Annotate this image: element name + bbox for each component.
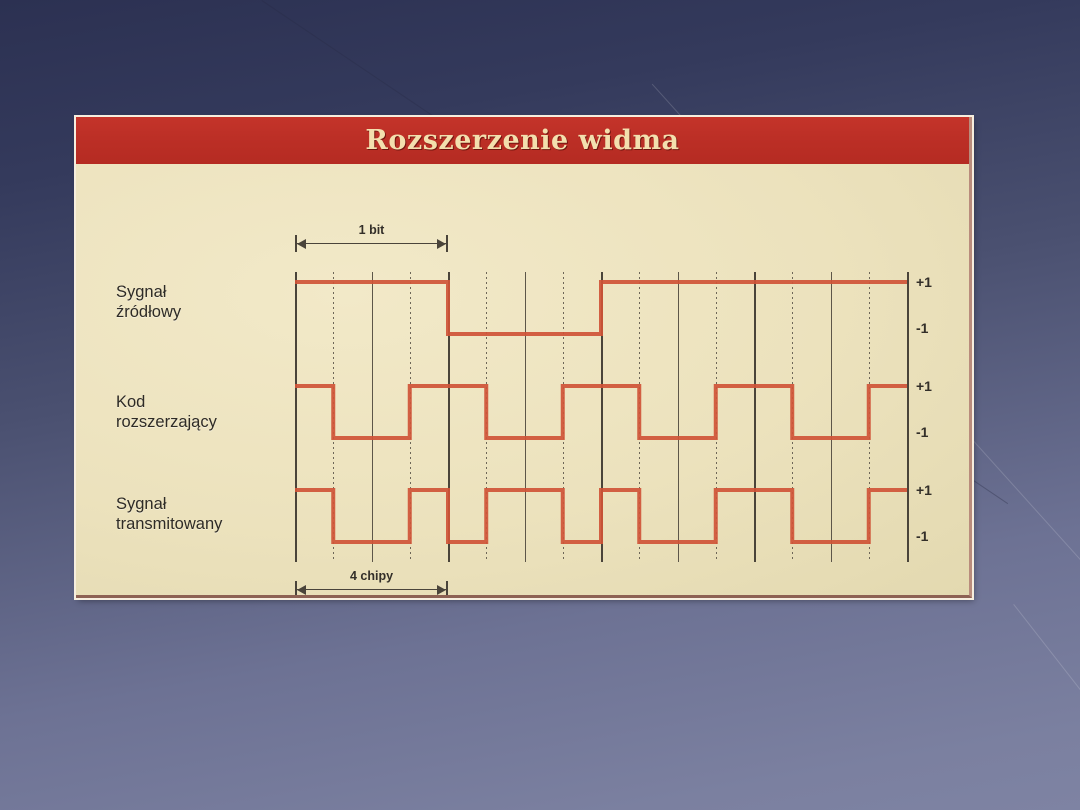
measure-bar [295, 589, 448, 590]
measure-four-chips: 4 chipy [295, 572, 448, 598]
axis-value-code-low: -1 [916, 424, 928, 440]
arrow-right-icon [437, 239, 446, 249]
figure-body: Sygnał źródłowy Kod rozszerzający Sygnał… [76, 164, 969, 595]
page-title: Rozszerzenie widma [365, 125, 679, 156]
decorative-diagonal-line-3 [1013, 604, 1080, 810]
figure-frame: Rozszerzenie widma Sygnał źródłowy Kod r… [76, 117, 972, 598]
waveform-source-path [295, 282, 907, 334]
arrow-left-icon [297, 239, 306, 249]
waveform-plot [295, 272, 907, 562]
measure-one-bit: 1 bit [295, 226, 448, 252]
row-label-source-signal: Sygnał źródłowy [116, 282, 181, 322]
axis-value-transmitted-high: +1 [916, 482, 932, 498]
row-label-spreading-code: Kod rozszerzający [116, 392, 217, 432]
axis-value-source-low: -1 [916, 320, 928, 336]
measure-bar [295, 243, 448, 244]
row-label-transmitted-signal: Sygnał transmitowany [116, 494, 222, 534]
arrow-right-icon [437, 585, 446, 595]
waveform-spreading-code [295, 376, 907, 448]
figure-title-banner: Rozszerzenie widma [76, 117, 969, 164]
axis-value-transmitted-low: -1 [916, 528, 928, 544]
waveform-code-path [295, 386, 907, 438]
measure-one-bit-label: 1 bit [295, 223, 448, 237]
waveform-transmitted-signal [295, 480, 907, 552]
arrow-left-icon [297, 585, 306, 595]
axis-value-source-high: +1 [916, 274, 932, 290]
waveform-transmitted-path [295, 490, 907, 542]
measure-four-chips-label: 4 chipy [295, 569, 448, 583]
gridline-bit-boundary [907, 272, 909, 562]
axis-value-code-high: +1 [916, 378, 932, 394]
slide-canvas: Rozszerzenie widma Sygnał źródłowy Kod r… [0, 0, 1080, 810]
waveform-source-signal [295, 272, 907, 344]
